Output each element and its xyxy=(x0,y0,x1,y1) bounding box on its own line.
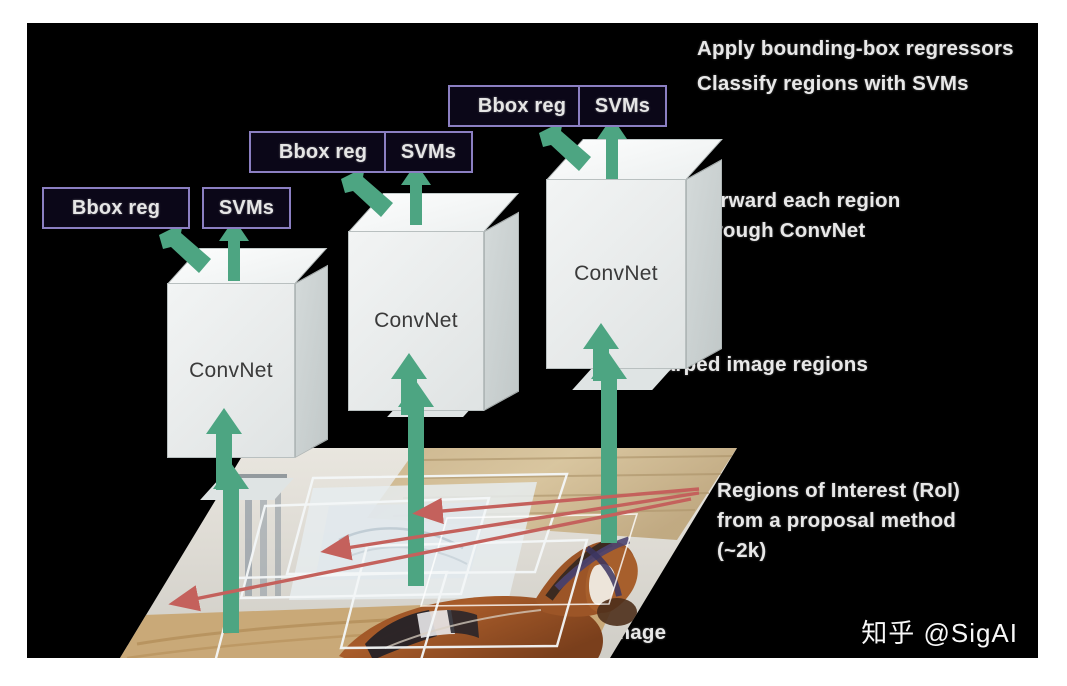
convnet-box-1-side xyxy=(295,265,328,458)
bbox-reg-label-1[interactable]: Bbox reg xyxy=(42,187,190,229)
annotation-apply-regressors: Apply bounding-box regressors xyxy=(697,34,1014,64)
bbox-reg-label-2[interactable]: Bbox reg xyxy=(249,131,397,173)
arrow-convnet-to-bbox-2 xyxy=(337,165,397,227)
bbox-reg-label-3[interactable]: Bbox reg xyxy=(448,85,596,127)
diagram-slide: ConvNet ConvNet ConvNet xyxy=(27,23,1038,658)
svms-label-2[interactable]: SVMs xyxy=(384,131,473,173)
convnet-box-2-label: ConvNet xyxy=(374,309,458,333)
arrow-convnet-to-bbox-3 xyxy=(535,119,595,181)
svms-label-3[interactable]: SVMs xyxy=(578,85,667,127)
convnet-box-3-side xyxy=(686,159,722,369)
arrow-warp-to-convnet-1 xyxy=(202,408,246,490)
convnet-box-2-side xyxy=(484,212,519,411)
annotation-classify-regions: Classify regions with SVMs xyxy=(697,69,969,99)
arrow-convnet-to-bbox-1 xyxy=(155,221,215,283)
convnet-box-1-label: ConvNet xyxy=(189,359,273,383)
arrow-warp-to-convnet-2 xyxy=(387,353,431,415)
convnet-box-3-label: ConvNet xyxy=(574,262,658,286)
zhihu-watermark: 知乎 @SigAI xyxy=(861,613,1018,650)
arrow-warp-to-convnet-3 xyxy=(579,323,623,381)
annotation-roi-line1: Regions of Interest (RoI) xyxy=(717,479,960,502)
annotation-regions-of-interest: Regions of Interest (RoI)from a proposal… xyxy=(717,476,960,566)
screenshot-root: ConvNet ConvNet ConvNet xyxy=(0,0,1067,686)
arrow-image-to-warp-3 xyxy=(585,353,633,543)
svms-label-1[interactable]: SVMs xyxy=(202,187,291,229)
annotation-roi-line2: from a proposal method xyxy=(717,509,956,532)
